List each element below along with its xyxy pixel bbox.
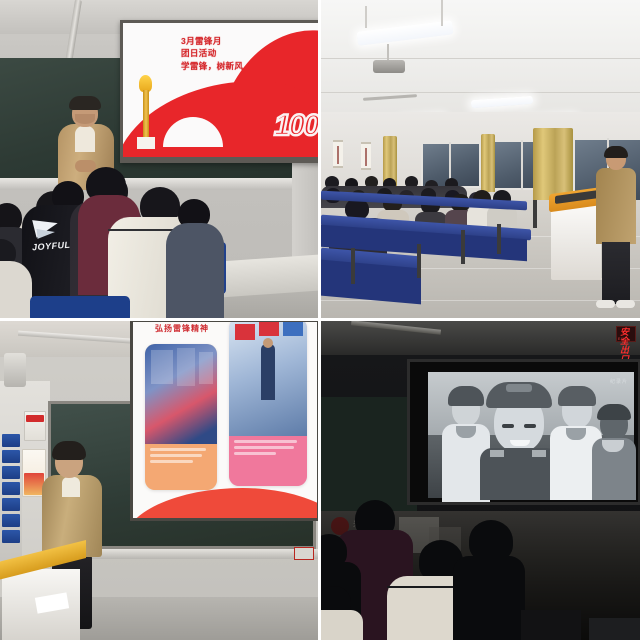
calligraphy-scroll: [361, 142, 371, 170]
film-still: 纪录片: [428, 372, 634, 498]
slide-card-left: [145, 344, 217, 490]
brochure-rack: [0, 431, 22, 561]
tr-standing-student: [596, 148, 636, 316]
slide-title-line-1: 3月雷锋月: [181, 35, 318, 47]
slide-title-line-2: 团日活动: [181, 47, 318, 59]
jacket-text: JOYFUL: [32, 240, 71, 253]
tl-audience: JOYFUL: [0, 173, 318, 318]
card-left-caption: [145, 444, 217, 490]
film-figure-soldier-center: [480, 378, 558, 500]
panel-top-left: 3月雷锋月 团日活动 学雷锋，树新风 100: [0, 0, 318, 318]
tr-ceiling: [321, 0, 640, 112]
audience-back: [0, 261, 32, 318]
silhouette-body: [521, 610, 581, 640]
tl-projection-screen: 3月雷锋月 团日活动 学雷锋，树新风 100: [120, 20, 318, 163]
ceiling-projector: [373, 60, 405, 73]
audience-back: [166, 223, 224, 318]
slide-card-right: [229, 321, 307, 486]
br-audience: [321, 490, 640, 640]
wall-socket: [294, 547, 314, 560]
slide-title-line-3: 学雷锋，树新风: [181, 60, 318, 72]
panel-top-right: [321, 0, 640, 318]
tl-chair-seat: [30, 296, 130, 318]
calligraphy-scroll: [333, 140, 343, 168]
tl-speaker-cap: [69, 96, 101, 110]
photo-collage: 3月雷锋月 团日活动 学雷锋，树新风 100: [0, 0, 640, 640]
br-projection-screen: 纪录片: [407, 359, 640, 505]
desk-silhouette: [589, 618, 640, 640]
bl-speaker-hair: [52, 441, 86, 460]
torch-monument-graphic: [135, 75, 157, 149]
wall-poster-art: [24, 473, 44, 495]
bl-slide-title: 弘扬雷锋精神: [155, 323, 209, 334]
slide-100-logo: 100: [274, 109, 318, 143]
bl-lectern: [0, 551, 90, 640]
slide-wave-red: [130, 488, 318, 521]
bl-projection-screen: 弘扬雷锋精神: [130, 321, 318, 521]
card-right-caption: [229, 436, 307, 486]
panel-bottom-left: 弘扬雷锋精神: [0, 321, 318, 640]
silhouette-body: [453, 556, 525, 640]
film-watermark: 纪录片: [610, 378, 628, 385]
bl-speaker-shirt: [62, 477, 80, 497]
tl-slide: 3月雷锋月 团日活动 学雷锋，树新风 100: [123, 23, 318, 157]
wall-poster-headline: [26, 415, 44, 422]
bl-wall-unit: [4, 353, 26, 387]
panel-bottom-right: 安全出口 EXIT: [321, 321, 640, 640]
window-curtain: [481, 134, 495, 192]
emergency-exit-sign: 安全出口 EXIT: [616, 326, 636, 342]
silhouette-body: [321, 610, 363, 640]
slide-title-block: 3月雷锋月 团日活动 学雷锋，树新风: [181, 35, 318, 72]
exit-sign-sublabel: EXIT: [618, 337, 627, 341]
film-figure-child-right: [592, 406, 636, 500]
tl-speaker-shirt: [75, 126, 95, 152]
